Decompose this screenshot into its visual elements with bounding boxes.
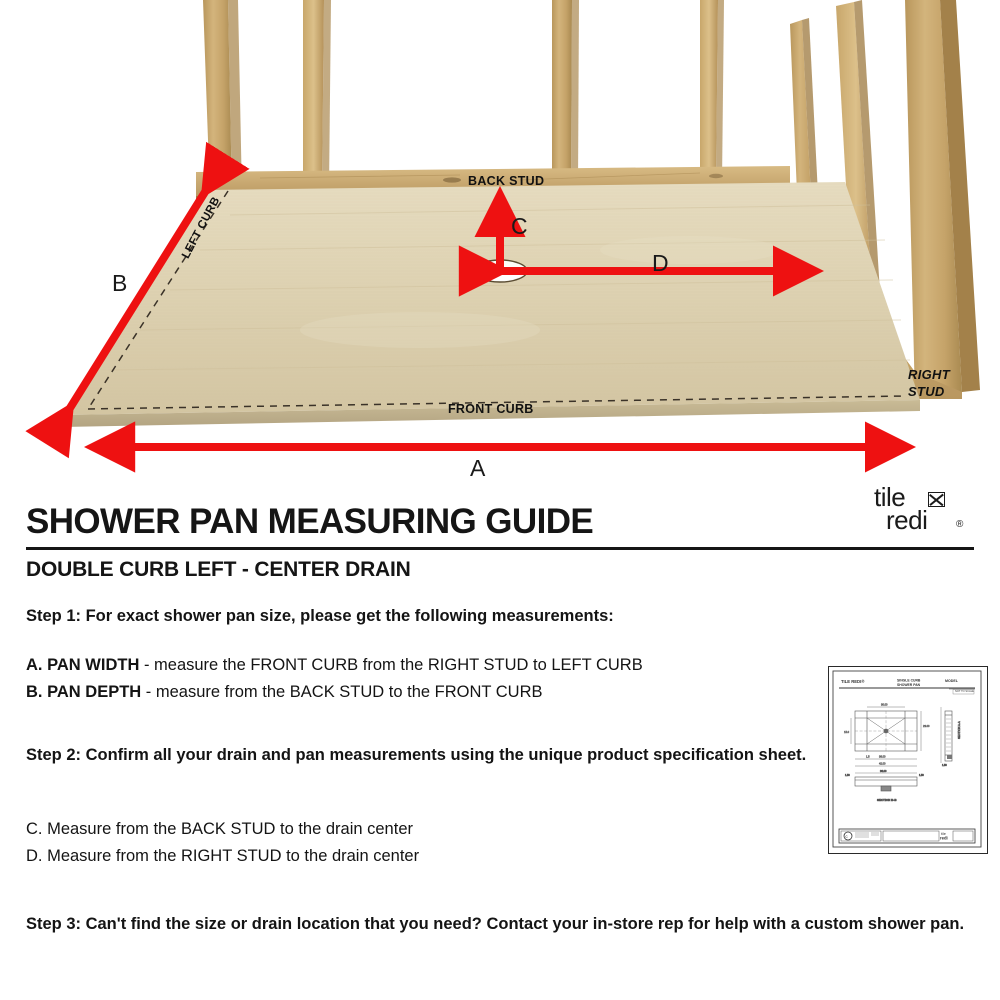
measurement-a-label: A. (26, 656, 43, 674)
svg-text:30.00: 30.00 (881, 703, 888, 707)
svg-text:36.00: 36.00 (879, 755, 886, 759)
svg-text:1.50: 1.50 (942, 764, 947, 767)
svg-text:1.50: 1.50 (919, 774, 924, 777)
svg-text:23.00: 23.00 (923, 724, 930, 728)
spec-section-aa: SECTION A-A (957, 721, 961, 739)
logo-text-redi: redi (886, 508, 927, 533)
spec-sheet-drawing: TILE REDI® SINGLE CURB SHOWER PAN MODEL … (829, 667, 985, 851)
label-right-stud-line1: RIGHT (908, 367, 950, 382)
measurement-a-term: PAN WIDTH (47, 656, 139, 674)
measurement-row-c: C. Measure from the BACK STUD to the dra… (26, 816, 826, 843)
guide-content: SHOWER PAN MEASURING GUIDE DOUBLE CURB L… (0, 480, 1000, 1000)
label-back-stud: BACK STUD (468, 174, 544, 188)
label-front-curb: FRONT CURB (448, 402, 534, 416)
svg-text:1.50: 1.50 (845, 774, 850, 777)
dimension-label-d: D (652, 250, 669, 277)
dimension-label-a: A (470, 455, 485, 480)
step-1-text: Step 1: For exact shower pan size, pleas… (26, 605, 846, 628)
measurement-row-b: B. PAN DEPTH - measure from the BACK STU… (26, 679, 846, 706)
measurement-b-text: - measure from the BACK STUD to the FRON… (141, 683, 542, 701)
label-right-stud-line2: STUD (908, 384, 945, 399)
tile-redi-logo: tile redi ® (872, 485, 976, 541)
x-in-square-icon (928, 492, 945, 507)
title-divider (26, 547, 974, 550)
measurement-b-label: B. (26, 683, 43, 701)
dimension-label-b: B (112, 270, 127, 297)
spec-section-bb: SECTION B-B (877, 798, 897, 802)
shower-framing-illustration: BACK STUD FRONT CURB RIGHT STUD LEFT CUR… (0, 0, 1000, 480)
specification-sheet-thumbnail[interactable]: TILE REDI® SINGLE CURB SHOWER PAN MODEL … (828, 666, 988, 854)
svg-text:1.5: 1.5 (866, 755, 870, 759)
registered-mark: ® (956, 519, 963, 530)
step-3-text: Step 3: Can't find the size or drain loc… (26, 912, 976, 937)
svg-text:15.0: 15.0 (844, 730, 850, 734)
page-subtitle: DOUBLE CURB LEFT - CENTER DRAIN (26, 558, 411, 582)
measurements-cd: C. Measure from the BACK STUD to the dra… (26, 816, 826, 870)
spec-model-label: MODEL (945, 679, 959, 683)
svg-text:36.00: 36.00 (880, 769, 887, 773)
spec-product-2: SHOWER PAN (897, 683, 921, 687)
step-2-text: Step 2: Confirm all your drain and pan m… (26, 743, 826, 768)
dimension-label-c: C (511, 213, 528, 240)
page-title: SHOWER PAN MEASURING GUIDE (26, 502, 593, 542)
measurement-row-d: D. Measure from the RIGHT STUD to the dr… (26, 843, 826, 870)
svg-text:42.00: 42.00 (879, 762, 886, 766)
spec-brand: TILE REDI® (841, 679, 865, 684)
label-right-stud: RIGHT STUD (908, 366, 950, 400)
spec-logo-redi: redi (940, 836, 948, 841)
measurements-ab: A. PAN WIDTH - measure the FRONT CURB fr… (26, 652, 846, 706)
measurement-row-a: A. PAN WIDTH - measure the FRONT CURB fr… (26, 652, 846, 679)
measurement-b-term: PAN DEPTH (47, 683, 141, 701)
back-wall-studs (203, 0, 724, 196)
guide-page: BACK STUD FRONT CURB RIGHT STUD LEFT CUR… (0, 0, 1000, 1000)
spec-product-1: SINGLE CURB (897, 679, 921, 683)
measurement-a-text: - measure the FRONT CURB from the RIGHT … (139, 656, 642, 674)
